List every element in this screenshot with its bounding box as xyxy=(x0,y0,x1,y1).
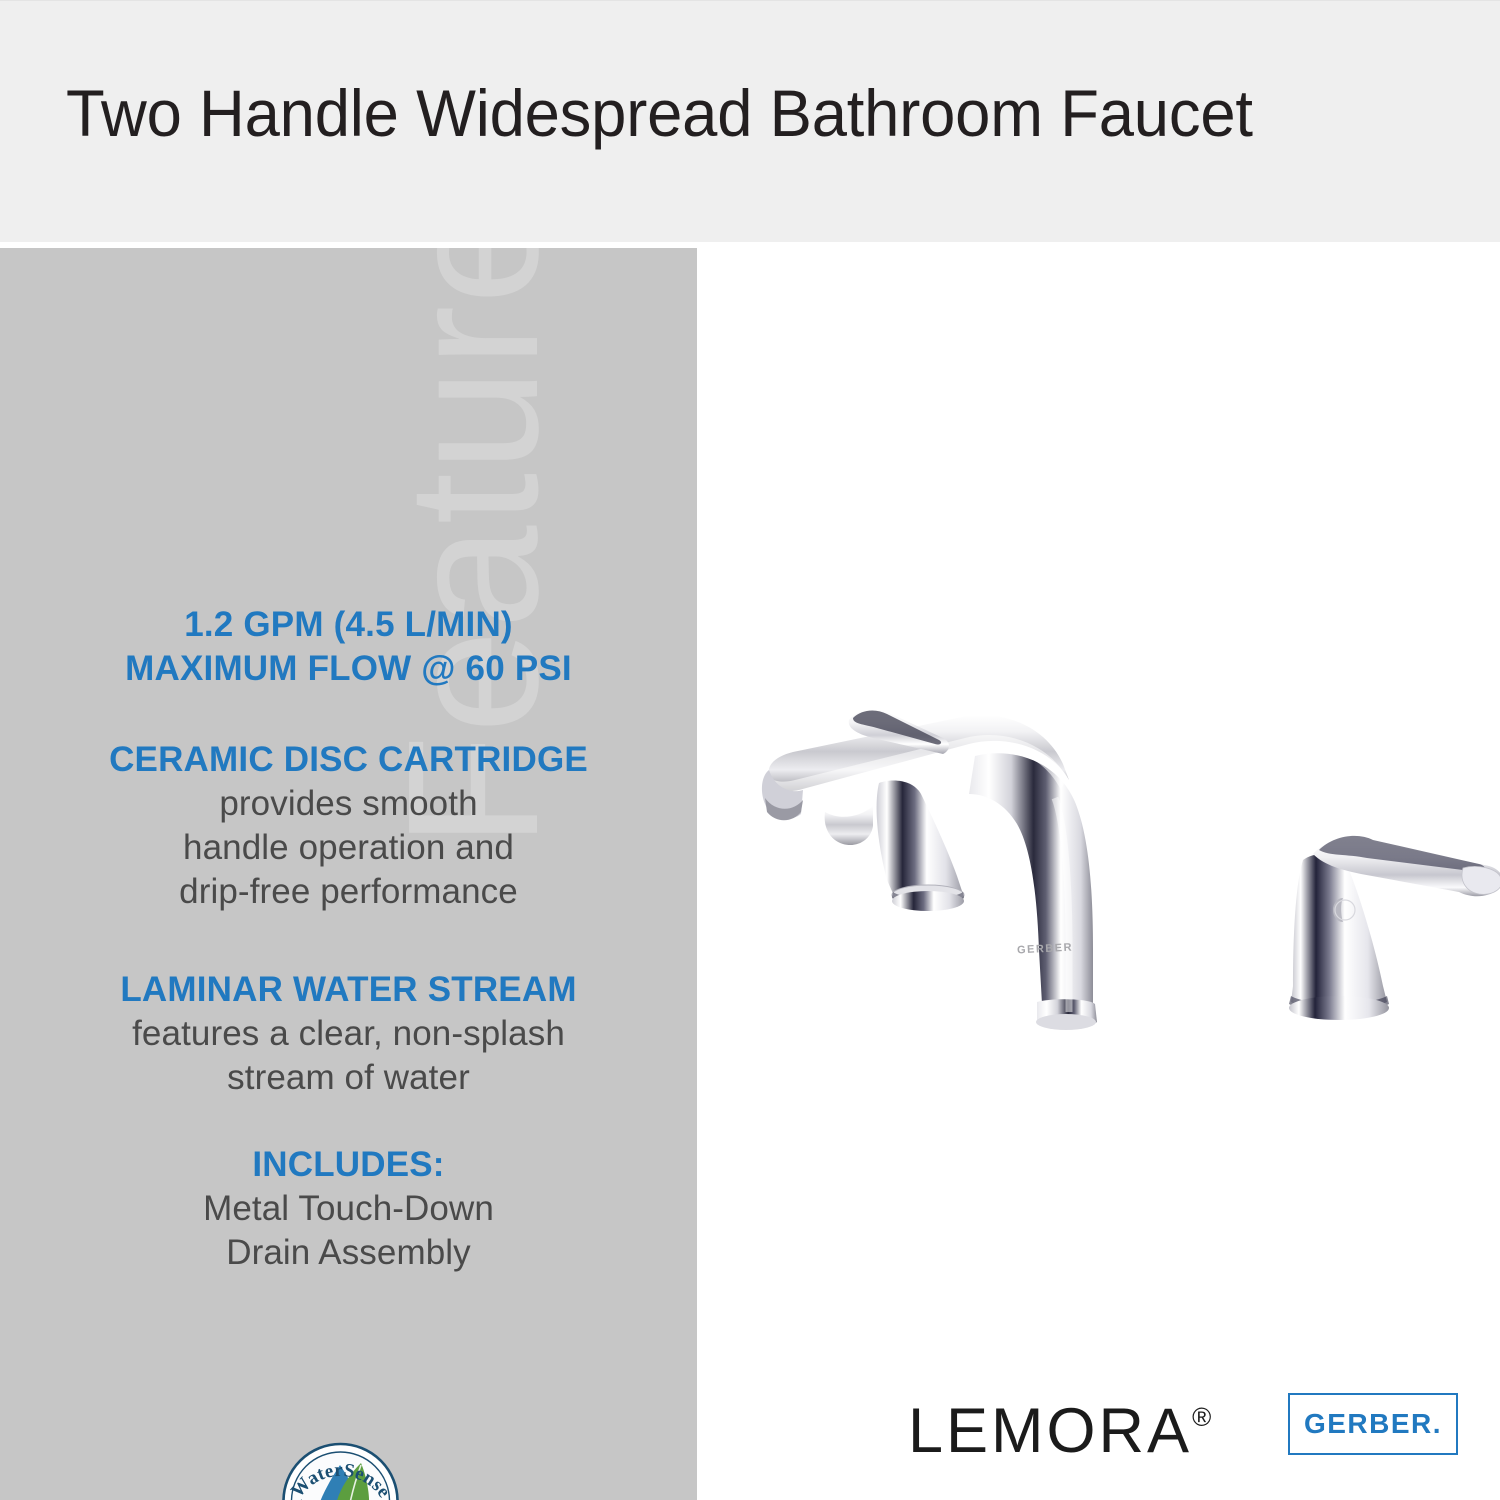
feature-ceramic-disc-cartridge: CERAMIC DISC CARTRIDGE provides smooth h… xyxy=(0,738,697,914)
feature-laminar-body-line1: features a clear, non-splash xyxy=(30,1012,667,1056)
watersense-logo-icon: WaterSense Meets EPA Criteria xyxy=(273,1441,408,1500)
feature-includes-body-line2: Drain Assembly xyxy=(30,1231,667,1275)
feature-laminar-heading: LAMINAR WATER STREAM xyxy=(30,968,667,1012)
feature-includes-heading: INCLUDES: xyxy=(30,1143,667,1187)
product-feature-sheet: Two Handle Widespread Bathroom Faucet Fe… xyxy=(0,0,1500,1500)
watersense-badge: WaterSense Meets EPA Criteria Certified … xyxy=(273,1441,408,1500)
lemora-logo: LEMORA® xyxy=(908,1386,1211,1463)
feature-flow-heading-line2: MAXIMUM FLOW @ 60 PSI xyxy=(30,647,667,691)
feature-cartridge-body-line3: drip-free performance xyxy=(30,870,667,914)
faucet-product-image xyxy=(707,598,1500,1098)
feature-flow-heading-line1: 1.2 GPM (4.5 L/MIN) xyxy=(30,603,667,647)
product-image-area: GERBER xyxy=(697,248,1500,1500)
feature-cartridge-body-line1: provides smooth xyxy=(30,782,667,826)
page-title: Two Handle Widespread Bathroom Faucet xyxy=(66,75,1253,151)
header-band: Two Handle Widespread Bathroom Faucet xyxy=(0,0,1500,242)
feature-includes: INCLUDES: Metal Touch-Down Drain Assembl… xyxy=(0,1143,697,1275)
feature-flow-rate: 1.2 GPM (4.5 L/MIN) MAXIMUM FLOW @ 60 PS… xyxy=(0,603,697,691)
feature-laminar-body-line2: stream of water xyxy=(30,1056,667,1100)
feature-laminar-water-stream: LAMINAR WATER STREAM features a clear, n… xyxy=(0,968,697,1100)
registered-trademark-icon: ® xyxy=(1192,1402,1211,1432)
gerber-wordmark: GERBER. xyxy=(1290,1395,1456,1453)
features-panel: Features 1.2 GPM (4.5 L/MIN) MAXIMUM FLO… xyxy=(0,248,697,1500)
feature-cartridge-body-line2: handle operation and xyxy=(30,826,667,870)
feature-cartridge-heading: CERAMIC DISC CARTRIDGE xyxy=(30,738,667,782)
gerber-logo: GERBER. xyxy=(1288,1393,1458,1455)
feature-includes-body-line1: Metal Touch-Down xyxy=(30,1187,667,1231)
lemora-wordmark: LEMORA xyxy=(908,1396,1192,1466)
